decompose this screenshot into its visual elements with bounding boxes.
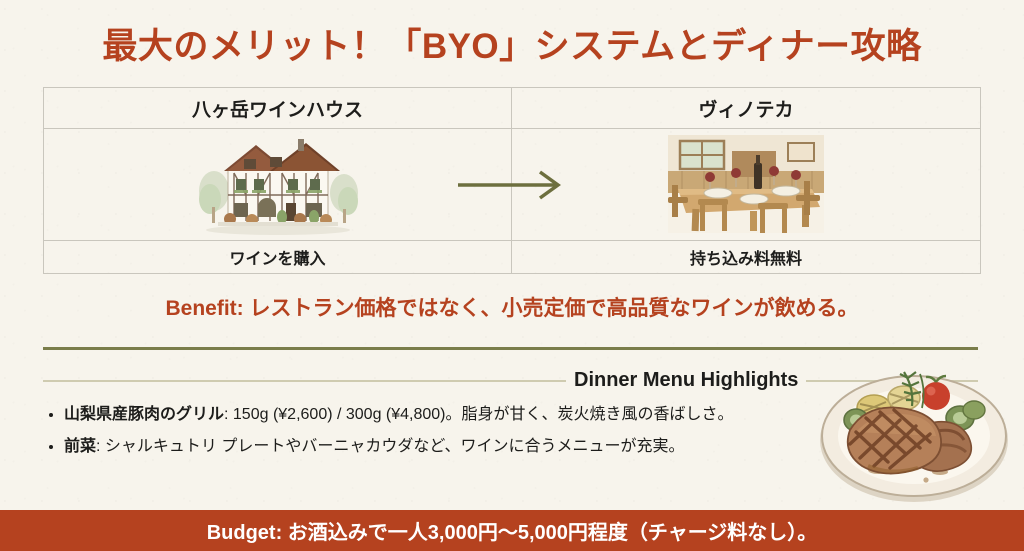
- menu-highlights-list: 山梨県産豚肉のグリル: 150g (¥2,600) / 300g (¥4,800…: [36, 404, 864, 467]
- section-divider-thick: [43, 347, 978, 350]
- table-header-cell-vinoteca: ヴィノテカ: [512, 88, 980, 128]
- table-cell-wine-house-image: [44, 129, 512, 240]
- restaurant-interior-illustration: [662, 133, 830, 237]
- budget-banner: Budget: お酒込みで一人3,000円〜5,000円程度（チャージ料なし）。: [0, 510, 1024, 551]
- table-header-row: 八ヶ岳ワインハウス ヴィノテカ: [44, 88, 980, 129]
- list-item: 山梨県産豚肉のグリル: 150g (¥2,600) / 300g (¥4,800…: [64, 404, 864, 426]
- table-footer-cell-purchase: ワインを購入: [44, 241, 512, 273]
- budget-text: Budget: お酒込みで一人3,000円〜5,000円程度（チャージ料なし）。: [207, 516, 818, 545]
- comparison-table: 八ヶ岳ワインハウス ヴィノテカ: [43, 87, 981, 274]
- grilled-pork-plate-illustration: [808, 362, 1020, 510]
- page-title: 最大のメリット！「BYO」システムとディナー攻略: [0, 18, 1024, 69]
- column-header-label: ヴィノテカ: [698, 95, 793, 122]
- menu-item-detail: : 150g (¥2,600) / 300g (¥4,800)。脂身が甘く、炭火…: [224, 406, 734, 423]
- menu-item-term: 山梨県産豚肉のグリル: [64, 406, 224, 423]
- table-footer-cell-corkage: 持ち込み料無料: [512, 241, 980, 273]
- menu-item-term: 前菜: [64, 438, 96, 455]
- wine-house-illustration: [194, 133, 362, 237]
- table-cell-restaurant-image: [512, 129, 980, 240]
- menu-section-heading: Dinner Menu Highlights: [566, 369, 806, 392]
- column-footer-label: 持ち込み料無料: [690, 245, 802, 269]
- list-item: 前菜: シャルキュトリ プレートやバーニャカウダなど、ワインに合うメニューが充実…: [64, 436, 864, 458]
- benefit-statement: Benefit: レストラン価格ではなく、小売定価で高品質なワインが飲める。: [0, 292, 1024, 322]
- column-footer-label: ワインを購入: [229, 245, 325, 269]
- column-header-label: 八ヶ岳ワインハウス: [192, 95, 363, 122]
- table-image-row: [44, 129, 980, 241]
- menu-item-detail: : シャルキュトリ プレートやバーニャカウダなど、ワインに合うメニューが充実。: [96, 438, 685, 455]
- table-header-cell-wine-house: 八ヶ岳ワインハウス: [44, 88, 512, 128]
- table-footer-row: ワインを購入 持ち込み料無料: [44, 241, 980, 273]
